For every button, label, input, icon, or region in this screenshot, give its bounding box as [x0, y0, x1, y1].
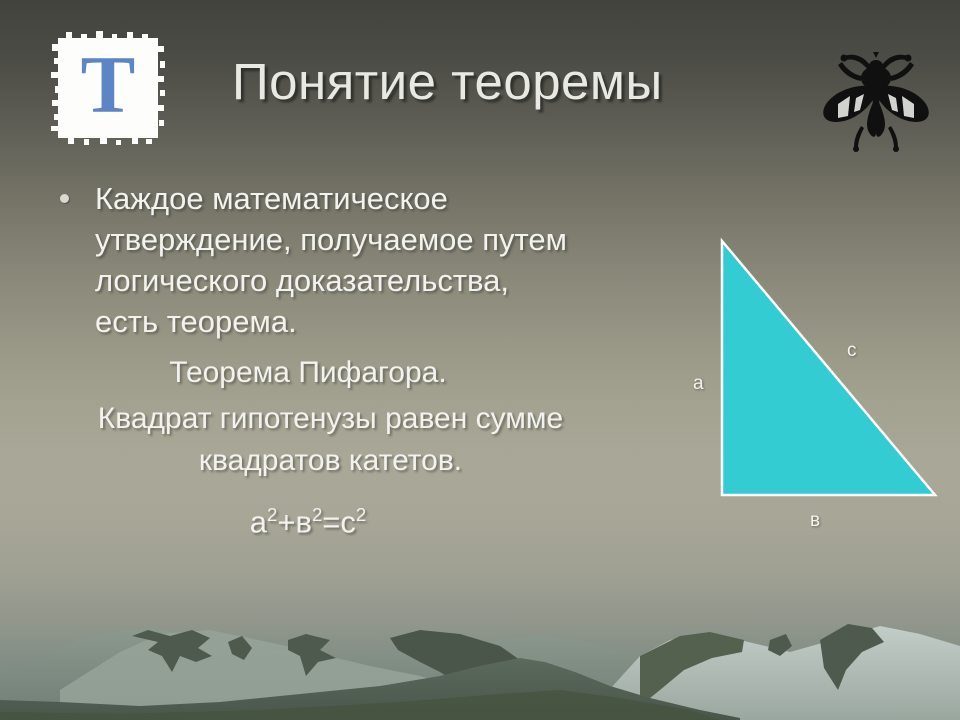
presentation-slide: Т — [0, 0, 960, 720]
bullet-item: Каждое математическое утверждение, получ… — [48, 178, 648, 342]
rock-outcrop-c — [288, 634, 336, 676]
rock-outcrop-b — [228, 636, 252, 660]
formula-exp-b: 2 — [312, 504, 322, 525]
pythagoras-title: Теорема Пифагора. — [48, 352, 568, 394]
slide-body: Каждое математическое утверждение, получ… — [48, 178, 648, 543]
triangle-label-a: a — [693, 373, 704, 395]
formula-base-c: с — [340, 504, 356, 539]
logo-letter: Т — [48, 28, 168, 148]
formula-exp-a: 2 — [267, 504, 277, 525]
right-massif — [600, 626, 960, 720]
rock-outcrop-a — [132, 630, 212, 672]
near-ridge — [0, 658, 740, 720]
right-triangle-diagram: a c в — [660, 215, 960, 545]
right-massif-shadow — [640, 632, 744, 706]
formula-exp-c: 2 — [356, 504, 366, 525]
sea-shape — [660, 655, 960, 720]
bullet-dot-icon — [60, 194, 69, 203]
formula-base-a: a — [250, 504, 267, 539]
right-rock-notch — [768, 634, 792, 656]
page-title: Понятие теоремы — [232, 52, 792, 111]
formula-base-b: в — [295, 504, 311, 539]
triangle-label-c: c — [847, 340, 857, 362]
mid-headland — [390, 630, 520, 700]
letter-t-stamp-icon: Т — [48, 28, 168, 148]
pythagoras-statement: Квадрат гипотенузы равен сумме квадратов… — [48, 398, 603, 482]
triangle-label-b: в — [810, 510, 820, 532]
formula-equals: = — [322, 504, 340, 539]
bullet-item-text: Каждое математическое утверждение, получ… — [95, 178, 575, 342]
moth-icon — [816, 42, 936, 154]
right-peak-dark — [820, 624, 884, 690]
formula-plus: + — [277, 504, 295, 539]
far-ridge — [0, 628, 960, 720]
left-peak-snow — [60, 630, 470, 720]
triangle-shape — [660, 215, 960, 545]
foreground-slope — [0, 690, 720, 720]
pythagoras-formula: a2+в2=с2 — [48, 494, 568, 543]
